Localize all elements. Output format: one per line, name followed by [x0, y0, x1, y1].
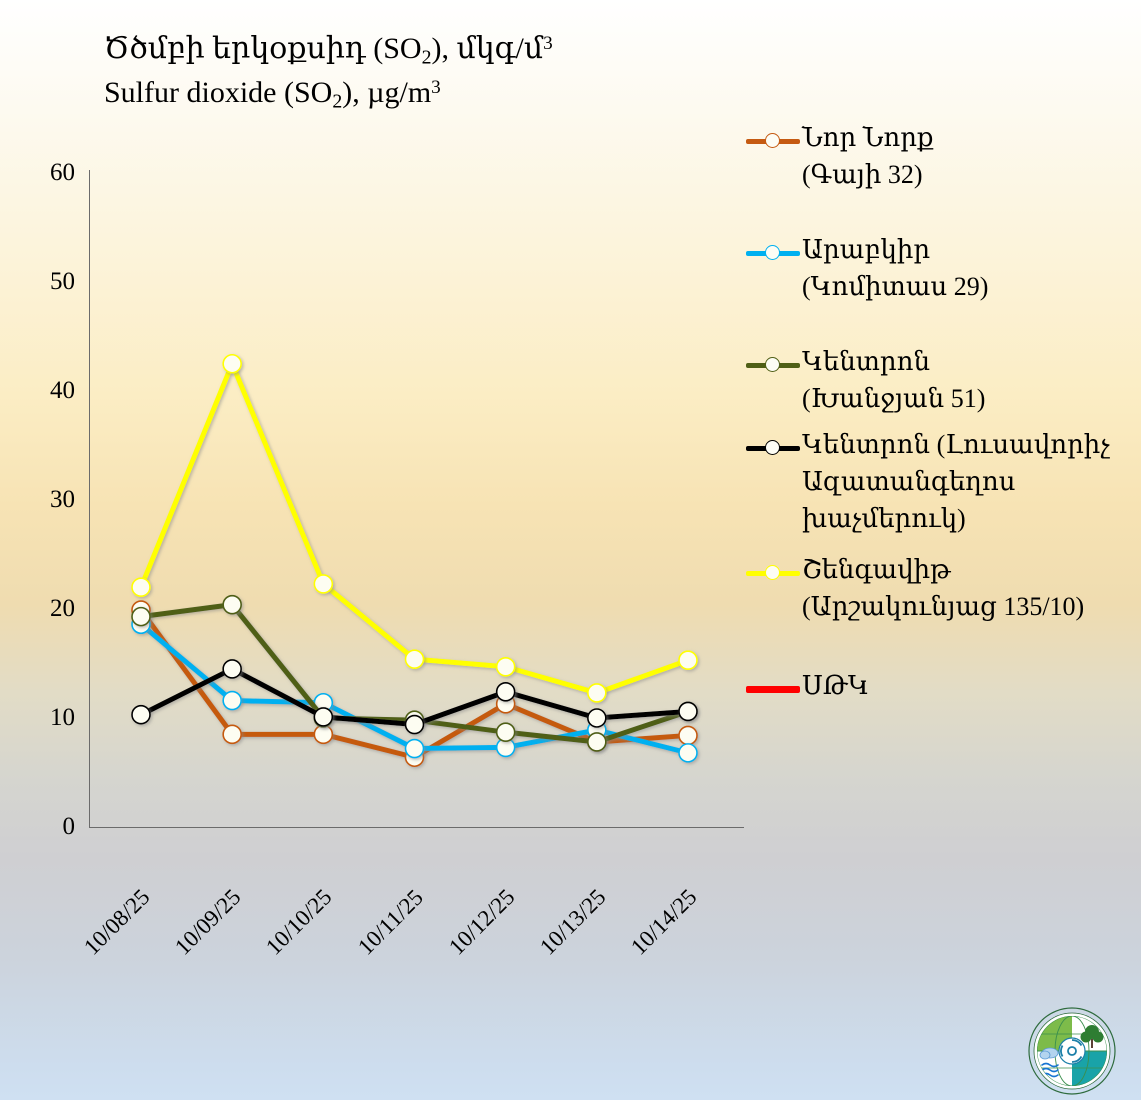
legend-label-line: Արաբկիր: [802, 232, 988, 269]
legend-swatch-kentron-lusavorich: [744, 433, 802, 463]
legend-item-shengavit[interactable]: Շենգավիթ(Արշակունյաց 135/10): [744, 550, 1136, 626]
legend-label-line: (Կոմիտաս 29): [802, 269, 988, 306]
legend-line-icon: [746, 686, 800, 693]
legend-label-kentron-lusavorich: Կենտրոն (ԼուսավորիչԱզատանգեղոսխաչմերուկ): [802, 425, 1110, 538]
legend-label-line: (Խանջյան 51): [802, 381, 985, 418]
x-axis-tick-0: 10/08/25: [79, 884, 155, 960]
legend-label-line: Ազատանգեղոս: [802, 464, 1110, 501]
x-axis-tick-3: 10/11/25: [353, 885, 429, 961]
x-axis-tick-2: 10/10/25: [261, 884, 337, 960]
legend-marker-icon: [765, 245, 780, 260]
legend-label-line: (Արշակունյաց 135/10): [802, 589, 1084, 626]
legend-swatch-atk-threshold: [744, 674, 802, 704]
legend-label-shengavit: Շենգավիթ(Արշակունյաց 135/10): [802, 550, 1084, 626]
x-axis-tick-6: 10/14/25: [626, 884, 702, 960]
legend-item-kentron-lusavorich[interactable]: Կենտրոն (ԼուսավորիչԱզատանգեղոսխաչմերուկ): [744, 425, 1136, 538]
legend-label-line: Նոր Նորք: [802, 120, 934, 157]
legend-item-kentron-khanjyan[interactable]: Կենտրոն(Խանջյան 51): [744, 342, 1136, 418]
legend-label-nor-nork: Նոր Նորք(Գայի 32): [802, 118, 934, 194]
legend-swatch-kentron-khanjyan: [744, 350, 802, 380]
chart-legend: Նոր Նորք(Գայի 32)Արաբկիր(Կոմիտաս 29)Կենտ…: [744, 118, 1136, 705]
legend-swatch-arabkir: [744, 238, 802, 268]
legend-marker-icon: [765, 133, 780, 148]
legend-label-line: Կենտրոն: [802, 344, 985, 381]
x-axis-tick-5: 10/13/25: [535, 884, 611, 960]
legend-label-line: Կենտրոն (Լուսավորիչ: [802, 427, 1110, 464]
legend-item-atk-threshold[interactable]: ՍԹԿ: [744, 666, 1136, 705]
legend-label-atk-threshold: ՍԹԿ: [802, 666, 869, 705]
legend-swatch-shengavit: [744, 558, 802, 588]
x-axis-tick-1: 10/09/25: [170, 884, 246, 960]
legend-label-line: ՍԹԿ: [802, 668, 869, 705]
legend-marker-icon: [765, 565, 780, 580]
legend-label-line: (Գայի 32): [802, 157, 934, 194]
legend-swatch-nor-nork: [744, 126, 802, 156]
legend-label-line: Շենգավիթ: [802, 552, 1084, 589]
legend-label-line: խաչմերուկ): [802, 501, 1110, 538]
legend-marker-icon: [765, 440, 780, 455]
legend-item-nor-nork[interactable]: Նոր Նորք(Գայի 32): [744, 118, 1136, 194]
legend-label-kentron-khanjyan: Կենտրոն(Խանջյան 51): [802, 342, 985, 418]
x-axis-tick-4: 10/12/25: [444, 884, 520, 960]
legend-item-arabkir[interactable]: Արաբկիր(Կոմիտաս 29): [744, 230, 1136, 306]
chart-container: Ծծմբի երկօքսիդ (SO2), մկգ/մ3 Sulfur diox…: [0, 0, 1141, 1100]
environmental-monitoring-center-logo: [1016, 1006, 1128, 1096]
legend-label-arabkir: Արաբկիր(Կոմիտաս 29): [802, 230, 988, 306]
legend-marker-icon: [765, 357, 780, 372]
